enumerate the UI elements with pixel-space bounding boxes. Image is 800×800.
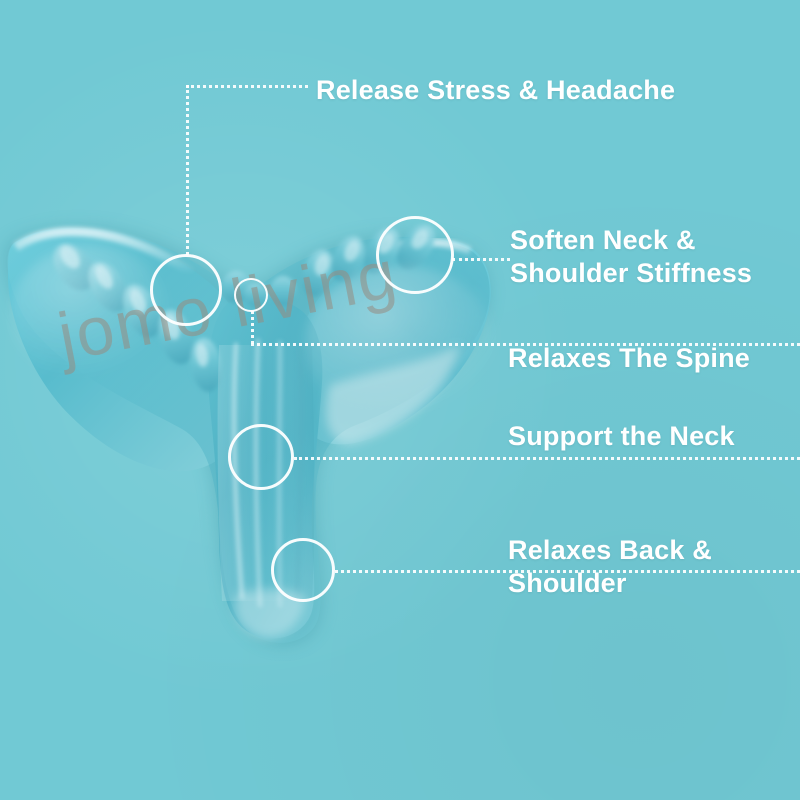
- callout-circle-relaxes-back[interactable]: [271, 538, 335, 602]
- callout-circle-support-neck[interactable]: [228, 424, 294, 490]
- leader-line-relaxes-spine-vertical: [251, 311, 254, 344]
- callout-label-relaxes-back: Relaxes Back & Shoulder: [508, 534, 712, 600]
- callout-label-support-neck: Support the Neck: [508, 420, 735, 453]
- leader-line-support-neck: [294, 457, 800, 460]
- infographic-canvas: jomo living Release Stress & Headache So…: [0, 0, 800, 800]
- callout-circle-soften-neck[interactable]: [376, 216, 454, 294]
- callout-label-relaxes-spine: Relaxes The Spine: [508, 342, 750, 375]
- callout-label-release-stress: Release Stress & Headache: [316, 74, 675, 107]
- callout-circle-relaxes-spine[interactable]: [234, 278, 268, 312]
- leader-line-release-stress-horizontal: [186, 85, 308, 88]
- product-gloss-left: [10, 245, 170, 385]
- leader-line-soften-neck: [452, 258, 510, 261]
- leader-line-release-stress-vertical: [186, 85, 189, 255]
- callout-label-soften-neck: Soften Neck & Shoulder Stiffness: [510, 224, 752, 290]
- callout-circle-release-stress[interactable]: [150, 254, 222, 326]
